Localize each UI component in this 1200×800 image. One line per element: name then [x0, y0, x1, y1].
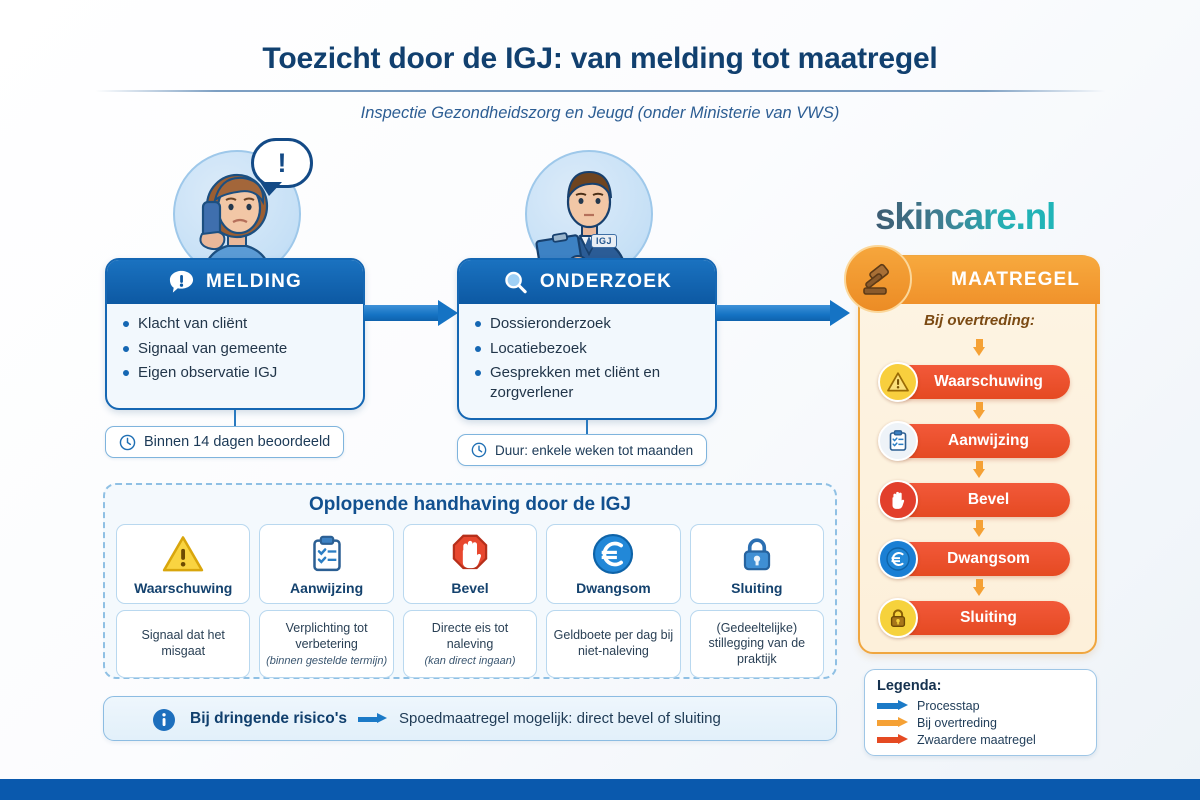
arrow-shaft	[716, 305, 832, 321]
bullet-item: Locatiebezoek	[475, 339, 701, 359]
handhaving-note: (binnen gestelde termijn)	[266, 655, 387, 667]
legenda-title: Legenda:	[877, 678, 1084, 694]
maatregel-panel: MAATREGEL Bij overtreding: Waarschuwing	[858, 255, 1097, 654]
exclamation-speech-icon	[168, 269, 195, 296]
process-arrow-melding-to-onderzoek	[364, 300, 458, 326]
bullet-text: Gesprekken met cliënt en zorgverlener	[490, 363, 701, 402]
maatregel-title: MAATREGEL	[951, 269, 1080, 291]
bullet-item: Signaal van gemeente	[123, 339, 349, 359]
handhaving-panel: Oplopende handhaving door de IGJ Waarsch…	[103, 483, 837, 679]
handhaving-name: Aanwijzing	[290, 580, 363, 596]
clock-icon	[471, 442, 487, 458]
legenda-label: Bij overtreding	[917, 716, 997, 730]
legend-arrow-blue-icon	[877, 700, 909, 711]
handhaving-desc-cell: Verplichting tot verbetering (binnen ges…	[259, 610, 393, 678]
ladder-pill-bevel[interactable]: Bevel	[891, 483, 1070, 517]
arrow-shaft	[358, 717, 378, 722]
bullet-text: Dossieronderzoek	[490, 314, 611, 334]
time-chip-melding: Binnen 14 dagen beoordeeld	[105, 426, 344, 458]
card-title-melding: MELDING	[206, 271, 302, 293]
bullet-text: Locatiebezoek	[490, 339, 587, 359]
arrow-head	[973, 347, 985, 356]
handhaving-desc-cell: Signaal dat het misgaat	[116, 610, 250, 678]
bullet-dot-icon	[475, 346, 481, 352]
handhaving-name: Waarschuwing	[134, 580, 232, 596]
legend-arrow-red-icon	[877, 734, 909, 745]
card-body-onderzoek: Dossieronderzoek Locatiebezoek Gesprekke…	[459, 304, 715, 415]
clipboard-checklist-icon	[878, 421, 918, 461]
clipboard-checklist-icon	[307, 532, 347, 576]
warning-triangle-icon	[161, 532, 205, 576]
handhaving-title: Oplopende handhaving door de IGJ	[116, 494, 824, 516]
bullet-text: Signaal van gemeente	[138, 339, 287, 359]
arrow-head	[438, 300, 458, 326]
footer-bar	[0, 779, 1200, 800]
card-header-onderzoek: ONDERZOEK	[459, 260, 715, 304]
page-subtitle: Inspectie Gezondheidszorg en Jeugd (onde…	[0, 104, 1200, 123]
handhaving-column-sluiting[interactable]: Sluiting (Gedeeltelijke) stillegging van…	[690, 524, 824, 678]
connector-stem-melding	[234, 410, 236, 426]
arrow-head	[973, 587, 985, 596]
arrow-right-icon	[358, 713, 388, 724]
arrow-shaft	[877, 737, 899, 743]
bullet-dot-icon	[123, 321, 129, 327]
arrow-head	[898, 700, 908, 710]
arrow-head	[898, 717, 908, 727]
arrow-head	[377, 713, 387, 723]
legenda-label: Processtap	[917, 699, 980, 713]
handhaving-name: Dwangsom	[576, 580, 651, 596]
handhaving-desc: Geldboete per dag bij niet-naleving	[552, 628, 674, 659]
time-chip-label: Binnen 14 dagen beoordeeld	[144, 434, 330, 450]
bullet-dot-icon	[123, 346, 129, 352]
arrow-shaft	[364, 305, 440, 321]
arrow-head	[973, 528, 985, 537]
title-divider	[95, 90, 1105, 92]
handhaving-icon-cell: Sluiting	[690, 524, 824, 604]
ladder-pill-sluiting[interactable]: Sluiting	[891, 601, 1070, 635]
padlock-icon	[878, 598, 918, 638]
handhaving-column-waarschuwing[interactable]: Waarschuwing Signaal dat het misgaat	[116, 524, 250, 678]
bullet-text: Klacht van cliënt	[138, 314, 247, 334]
urgent-text: Spoedmaatregel mogelijk: direct bevel of…	[399, 710, 721, 727]
bullet-text: Eigen observatie IGJ	[138, 363, 277, 383]
handhaving-grid: Waarschuwing Signaal dat het misgaat Aan…	[116, 524, 824, 678]
handhaving-desc: Signaal dat het misgaat	[122, 628, 244, 659]
clock-icon	[119, 434, 136, 451]
arrow-head	[898, 734, 908, 744]
igj-badge: IGJ	[591, 234, 617, 248]
warning-triangle-icon	[878, 362, 918, 402]
maatregel-intro: Bij overtreding:	[860, 312, 1099, 329]
stop-hand-icon	[449, 532, 491, 576]
handhaving-desc: Verplichting tot verbetering	[265, 621, 387, 652]
info-circle-icon	[152, 708, 176, 732]
legenda-panel: Legenda: Processtap Bij overtreding Zwaa…	[864, 669, 1097, 756]
gavel-glyph	[858, 259, 898, 299]
handhaving-desc-cell: Directe eis tot naleving (kan direct ing…	[403, 610, 537, 678]
legenda-label: Zwaardere maatregel	[917, 733, 1036, 747]
arrow-shaft	[877, 720, 899, 726]
bullet-dot-icon	[475, 370, 481, 376]
handhaving-column-dwangsom[interactable]: Dwangsom Geldboete per dag bij niet-nale…	[546, 524, 680, 678]
legenda-row-bij-overtreding: Bij overtreding	[877, 714, 1084, 731]
arrow-head	[973, 410, 985, 419]
legend-arrow-orange-icon	[877, 717, 909, 728]
page-header: Toezicht door de IGJ: van melding tot ma…	[0, 42, 1200, 123]
handhaving-icon-cell: Dwangsom	[546, 524, 680, 604]
exclamation-speech-bubble: !	[251, 138, 313, 188]
ladder-pill-waarschuwing[interactable]: Waarschuwing	[891, 365, 1070, 399]
card-body-melding: Klacht van cliënt Signaal van gemeente E…	[107, 304, 363, 396]
connector-stem-onderzoek	[586, 420, 588, 434]
warning-glyph	[886, 370, 910, 394]
bullet-item: Eigen observatie IGJ	[123, 363, 349, 383]
handhaving-name: Sluiting	[731, 580, 782, 596]
stop-hand-icon	[878, 480, 918, 520]
bullet-dot-icon	[123, 370, 129, 376]
card-header-melding: MELDING	[107, 260, 363, 304]
euro-coin-icon	[878, 539, 918, 579]
handhaving-column-aanwijzing[interactable]: Aanwijzing Verplichting tot verbetering …	[259, 524, 393, 678]
padlock-glyph	[887, 607, 909, 629]
ladder-pill-dwangsom[interactable]: Dwangsom	[891, 542, 1070, 576]
step-card-onderzoek[interactable]: ONDERZOEK Dossieronderzoek Locatiebezoek…	[457, 258, 717, 420]
time-chip-label: Duur: enkele weken tot maanden	[495, 443, 693, 458]
arrow-head	[973, 469, 985, 478]
handhaving-icon-cell: Aanwijzing	[259, 524, 393, 604]
arrow-shaft	[877, 703, 899, 709]
handhaving-desc: (Gedeeltelijke) stillegging van de prakt…	[696, 621, 818, 668]
handhaving-desc-cell: Geldboete per dag bij niet-naleving	[546, 610, 680, 678]
gavel-icon	[844, 245, 912, 313]
skincare-logo[interactable]: skincare.nl	[875, 196, 1055, 238]
urgent-risk-bar: Bij dringende risico's Spoedmaatregel mo…	[103, 696, 837, 741]
bullet-dot-icon	[475, 321, 481, 327]
handhaving-column-bevel[interactable]: Bevel Directe eis tot naleving (kan dire…	[403, 524, 537, 678]
bullet-item: Gesprekken met cliënt en zorgverlener	[475, 363, 701, 402]
handhaving-name: Bevel	[451, 580, 488, 596]
page-title: Toezicht door de IGJ: van melding tot ma…	[0, 42, 1200, 76]
step-card-melding[interactable]: MELDING Klacht van cliënt Signaal van ge…	[105, 258, 365, 410]
handhaving-icon-cell: Bevel	[403, 524, 537, 604]
stop-hand-glyph	[887, 489, 909, 511]
legenda-row-zwaardere-maatregel: Zwaardere maatregel	[877, 731, 1084, 748]
bullet-item: Klacht van cliënt	[123, 314, 349, 334]
clipboard-glyph	[886, 429, 910, 453]
padlock-icon	[738, 532, 776, 576]
ladder-pill-aanwijzing[interactable]: Aanwijzing	[891, 424, 1070, 458]
card-title-onderzoek: ONDERZOEK	[540, 271, 672, 293]
handhaving-note: (kan direct ingaan)	[424, 655, 515, 667]
magnifier-icon	[502, 269, 529, 296]
euro-glyph	[885, 546, 911, 572]
handhaving-desc-cell: (Gedeeltelijke) stillegging van de prakt…	[690, 610, 824, 678]
legenda-row-processtap: Processtap	[877, 697, 1084, 714]
bullet-item: Dossieronderzoek	[475, 314, 701, 334]
euro-coin-icon	[591, 532, 635, 576]
arrow-head	[830, 300, 850, 326]
handhaving-desc: Directe eis tot naleving	[409, 621, 531, 652]
time-chip-onderzoek: Duur: enkele weken tot maanden	[457, 434, 707, 466]
urgent-strong-text: Bij dringende risico's	[190, 710, 347, 728]
handhaving-icon-cell: Waarschuwing	[116, 524, 250, 604]
process-arrow-onderzoek-to-maatregel	[716, 300, 850, 326]
